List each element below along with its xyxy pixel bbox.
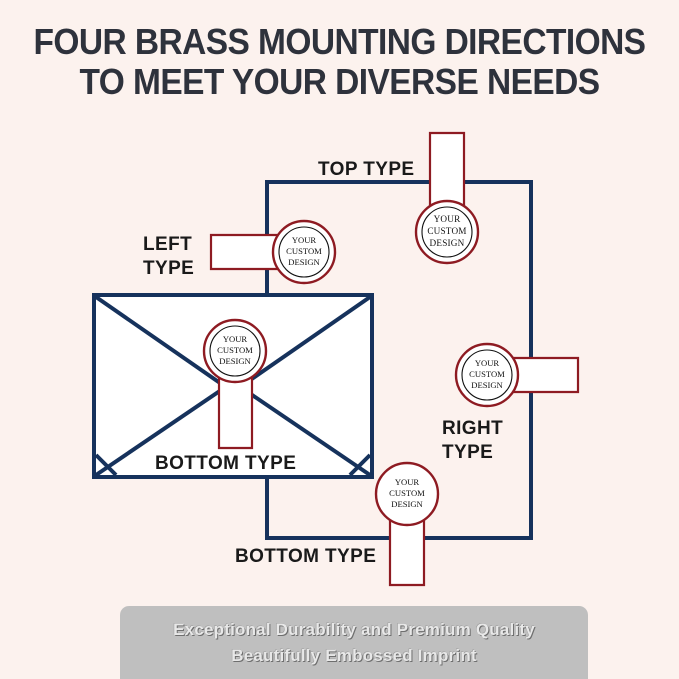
label-bottom-type: BOTTOM TYPE bbox=[235, 545, 376, 569]
label-left-type-line-1: LEFT bbox=[143, 234, 192, 255]
banner-line-2: Beautifully Embossed Imprint bbox=[120, 643, 588, 669]
bottom-type-stamp[interactable]: YOUR CUSTOM DESIGN bbox=[376, 463, 438, 585]
left-type-seal-line-2: CUSTOM bbox=[286, 246, 322, 256]
right-type-seal-line-1: YOUR bbox=[475, 358, 500, 368]
envelope-seal-line-3: DESIGN bbox=[219, 356, 251, 366]
top-type-seal-line-1: YOUR bbox=[434, 214, 462, 224]
left-type-seal-line-1: YOUR bbox=[292, 235, 317, 245]
label-top-type: TOP TYPE bbox=[318, 158, 414, 182]
left-type-stamp[interactable]: YOUR CUSTOM DESIGN bbox=[211, 221, 335, 283]
banner-line-1: Exceptional Durability and Premium Quali… bbox=[120, 617, 588, 643]
infographic-page: FOUR BRASS MOUNTING DIRECTIONS TO MEET Y… bbox=[0, 0, 679, 679]
mounting-directions-diagram: YOUR CUSTOM DESIGN YOUR CUSTOM DESIGN YO… bbox=[0, 0, 679, 679]
right-type-seal-line-2: CUSTOM bbox=[469, 369, 505, 379]
top-type-seal-line-2: CUSTOM bbox=[427, 226, 466, 236]
label-envelope-bottom-type: BOTTOM TYPE bbox=[155, 452, 296, 476]
right-type-seal-line-3: DESIGN bbox=[471, 380, 503, 390]
envelope-seal-line-2: CUSTOM bbox=[217, 345, 253, 355]
bottom-type-seal-line-3: DESIGN bbox=[391, 499, 423, 509]
right-type-stamp[interactable]: YOUR CUSTOM DESIGN bbox=[456, 344, 578, 406]
label-left-type: LEFT TYPE bbox=[143, 233, 194, 281]
envelope-seal-line-1: YOUR bbox=[223, 334, 248, 344]
left-type-seal-line-3: DESIGN bbox=[288, 257, 320, 267]
top-type-seal-line-3: DESIGN bbox=[430, 238, 465, 248]
label-right-type: RIGHT TYPE bbox=[442, 417, 503, 465]
bottom-banner: Exceptional Durability and Premium Quali… bbox=[120, 606, 588, 679]
bottom-type-seal-line-1: YOUR bbox=[395, 477, 420, 487]
label-right-type-line-1: RIGHT bbox=[442, 418, 503, 439]
label-left-type-line-2: TYPE bbox=[143, 257, 194, 281]
label-right-type-line-2: TYPE bbox=[442, 441, 503, 465]
bottom-type-seal-line-2: CUSTOM bbox=[389, 488, 425, 498]
top-type-stamp[interactable]: YOUR CUSTOM DESIGN bbox=[416, 133, 478, 263]
